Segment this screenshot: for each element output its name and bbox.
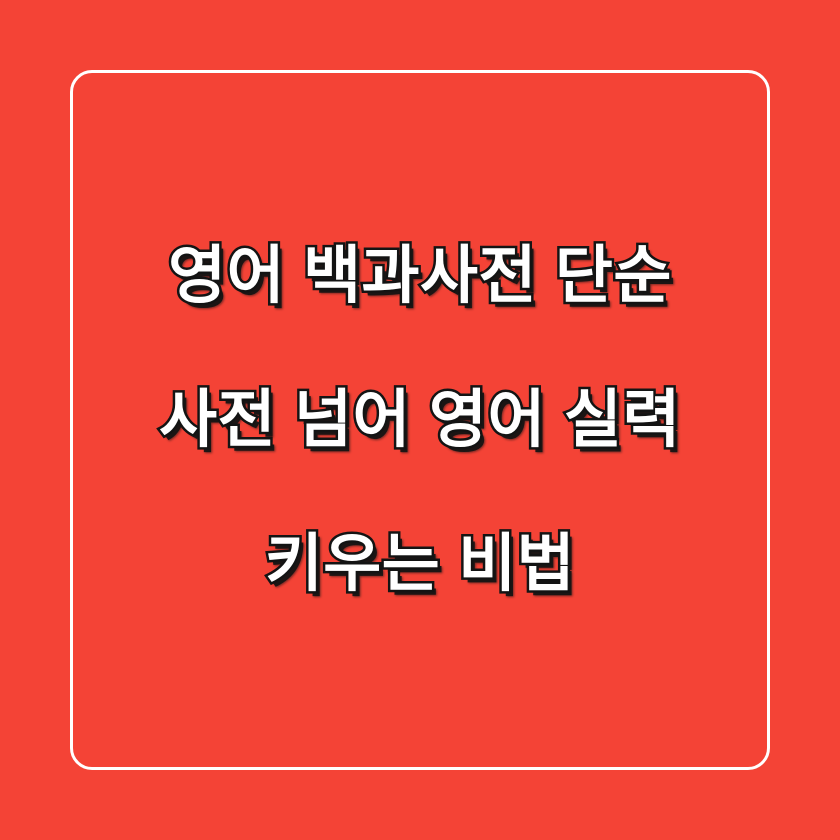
headline-line-1: 영어 백과사전 단순 [159, 240, 681, 312]
headline-container: 영어 백과사전 단순 사전 넘어 영어 실력 키우는 비법 [70, 70, 770, 770]
headline-line-2: 사전 넘어 영어 실력 [159, 384, 681, 456]
thumbnail-canvas: 영어 백과사전 단순 사전 넘어 영어 실력 키우는 비법 [0, 0, 840, 840]
page-title: 영어 백과사전 단순 사전 넘어 영어 실력 키우는 비법 [159, 168, 681, 672]
headline-line-3: 키우는 비법 [159, 528, 681, 600]
